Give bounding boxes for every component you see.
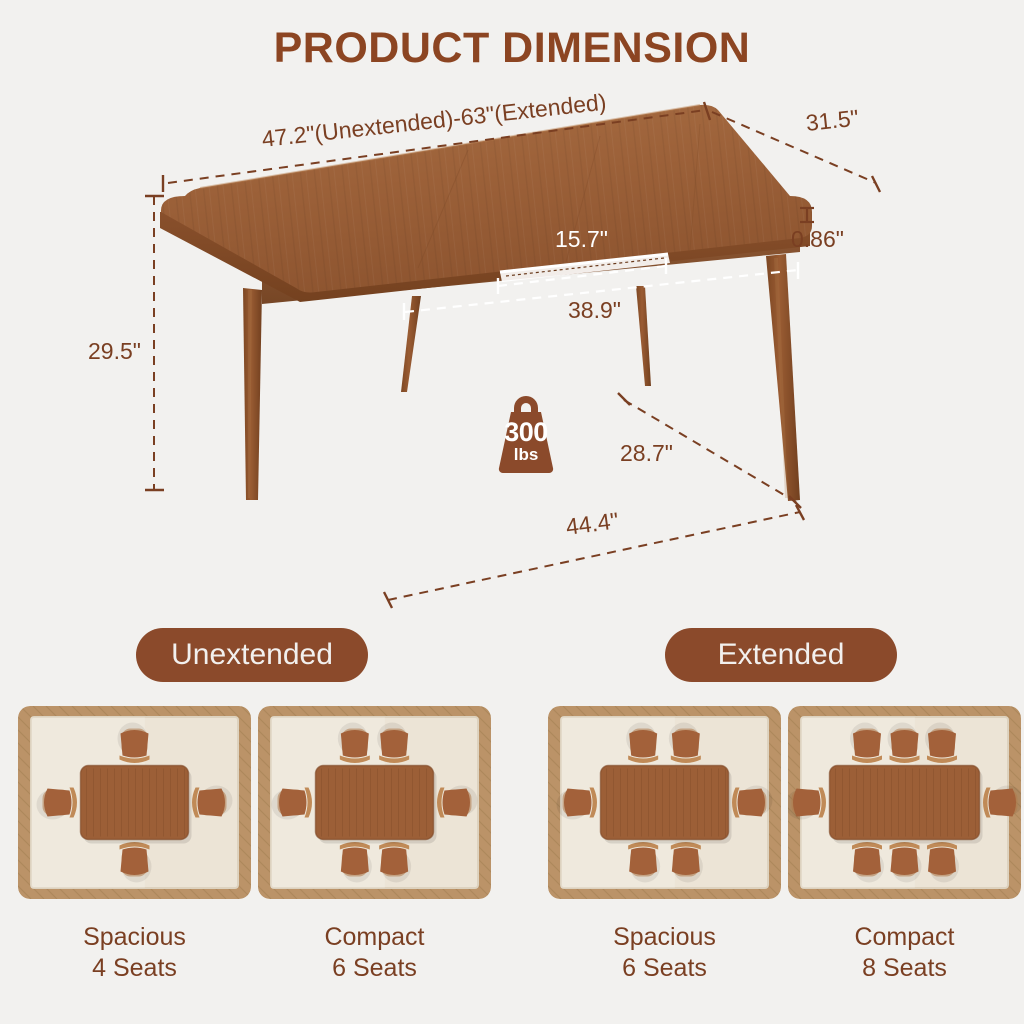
seating-caption-1: Compact 6 Seats [258, 922, 491, 984]
seating-card-compact-6[interactable] [258, 706, 491, 899]
table-leg-front-left [243, 288, 262, 500]
table-top [160, 105, 812, 302]
seating-style-0: Spacious [18, 922, 251, 953]
dimension-label-depth: 31.5" [805, 105, 860, 137]
seating-style-2: Spacious [548, 922, 781, 953]
seating-seats-2: 6 Seats [548, 953, 781, 984]
seating-seats-0: 4 Seats [18, 953, 251, 984]
seating-style-3: Compact [788, 922, 1021, 953]
dimension-label-apron-span: 38.9" [568, 297, 621, 324]
product-dimension-infographic: PRODUCT DIMENSION [0, 0, 1024, 1024]
seating-card-spacious-4[interactable] [18, 706, 251, 899]
dimension-label-leaf: 15.7" [555, 226, 608, 253]
seating-caption-0: Spacious 4 Seats [18, 922, 251, 984]
section-pill-extended: Extended [665, 628, 897, 682]
seating-seats-3: 8 Seats [788, 953, 1021, 984]
seating-seats-1: 6 Seats [258, 953, 491, 984]
table-leg-back-right [636, 286, 651, 386]
dimension-label-leg-depth: 28.7" [620, 440, 673, 467]
table-illustration: 47.2"(Unextended)-63"(Extended) 31.5" 0.… [0, 0, 1024, 620]
weight-capacity-badge: 300 lbs [484, 392, 568, 476]
seating-card-spacious-6[interactable] [548, 706, 781, 899]
seating-caption-3: Compact 8 Seats [788, 922, 1021, 984]
seating-card-compact-8[interactable] [788, 706, 1021, 899]
seating-style-1: Compact [258, 922, 491, 953]
dimension-label-height: 29.5" [88, 338, 141, 365]
dimension-label-thickness: 0.86" [791, 226, 844, 253]
weight-unit: lbs [484, 445, 568, 465]
section-pill-unextended: Unextended [136, 628, 368, 682]
table-drawing [0, 0, 1024, 620]
seating-caption-2: Spacious 6 Seats [548, 922, 781, 984]
table-leg-front-right [766, 254, 800, 501]
weight-value: 300 [484, 417, 568, 448]
